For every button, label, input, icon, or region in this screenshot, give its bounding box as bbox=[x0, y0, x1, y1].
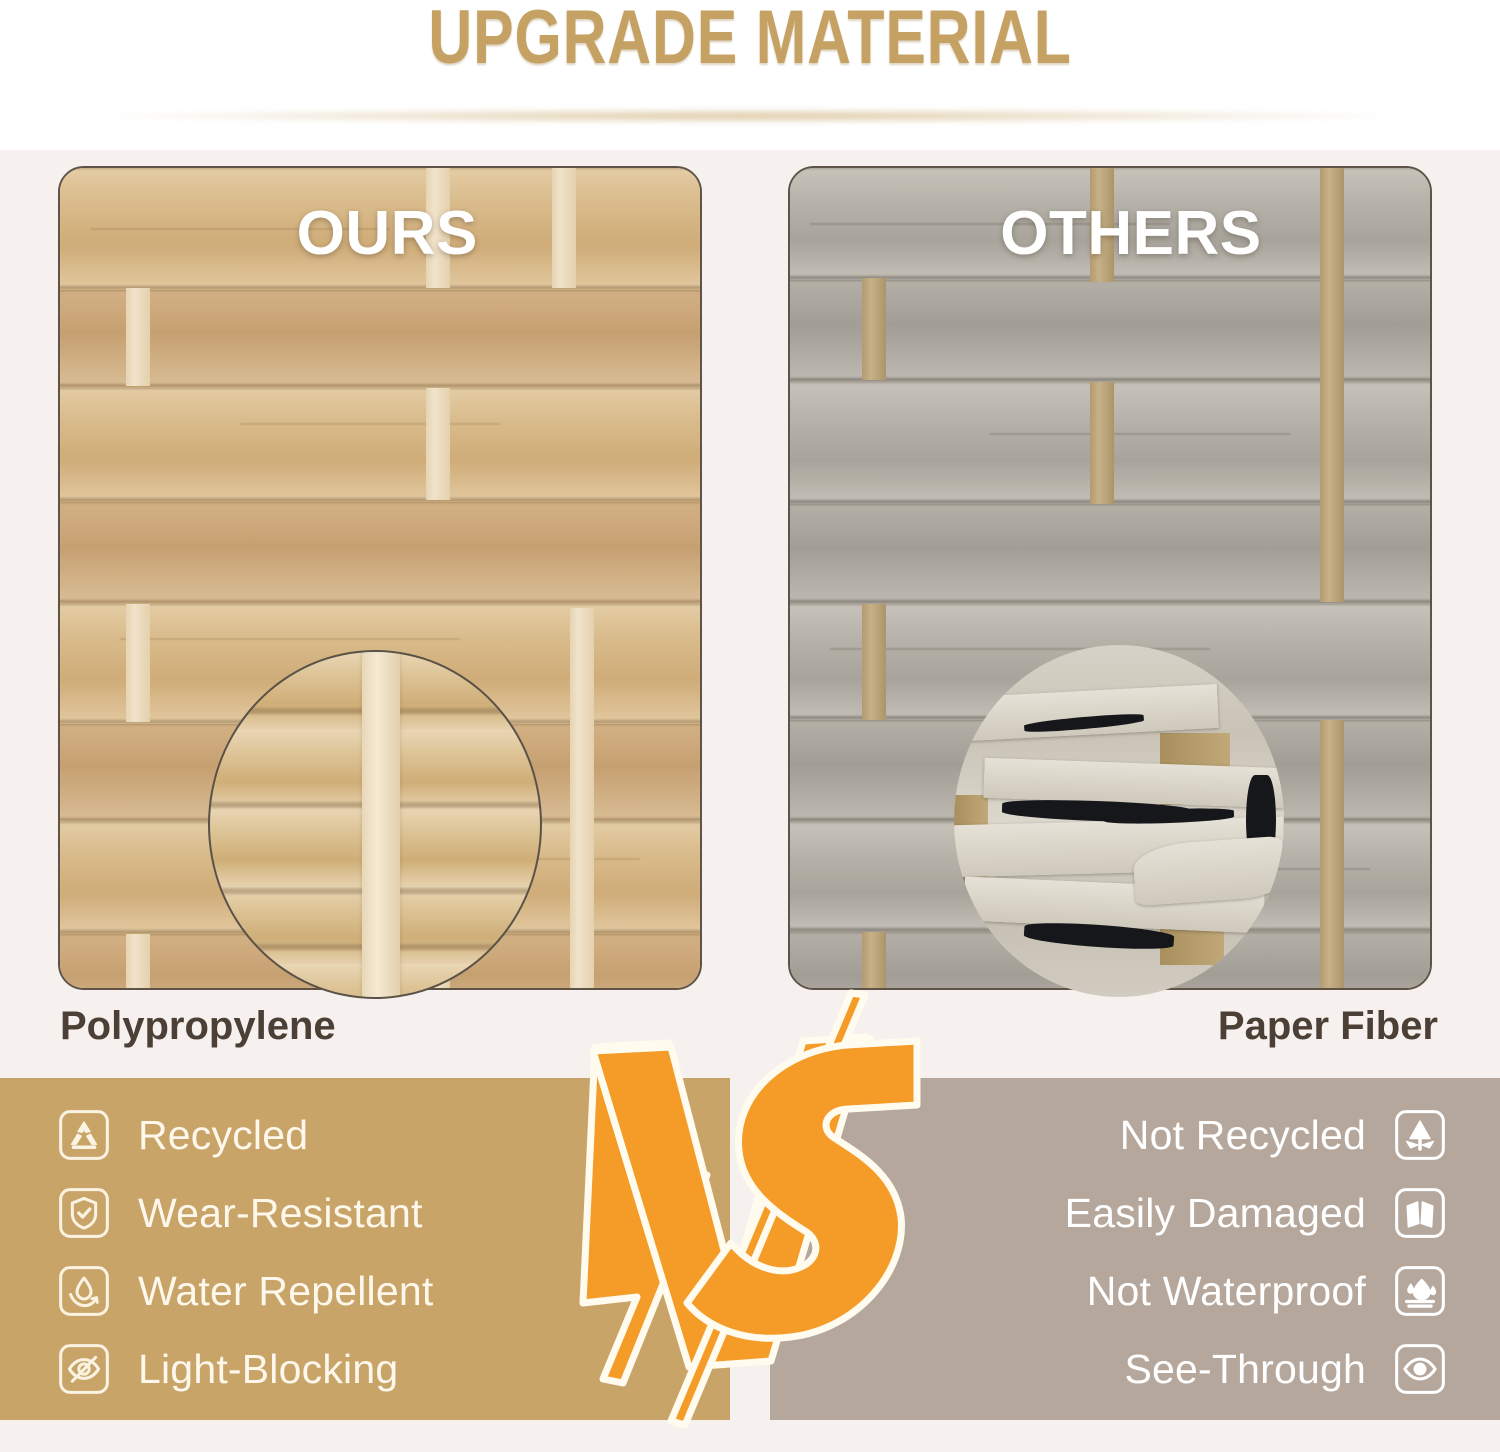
torn-paper-icon bbox=[1392, 1185, 1448, 1241]
ours-closeup-magnifier bbox=[208, 650, 542, 999]
eye-icon bbox=[1392, 1341, 1448, 1397]
feature-label: Not Recycled bbox=[1120, 1112, 1366, 1159]
others-feature-bar: Not Recycled Easily Damaged bbox=[770, 1078, 1500, 1420]
feature-label: Not Waterproof bbox=[1087, 1268, 1366, 1315]
list-item: Not Recycled bbox=[770, 1096, 1500, 1174]
title-underline-glow bbox=[100, 108, 1400, 124]
water-repellent-icon bbox=[56, 1263, 112, 1319]
ours-badge: OURS bbox=[297, 198, 478, 269]
feature-label: Light-Blocking bbox=[138, 1346, 398, 1393]
feature-label: Water Repellent bbox=[138, 1268, 433, 1315]
feature-label: Wear-Resistant bbox=[138, 1190, 423, 1237]
list-item: Easily Damaged bbox=[770, 1174, 1500, 1252]
others-badge: OTHERS bbox=[1000, 198, 1261, 269]
shield-check-icon bbox=[56, 1185, 112, 1241]
broken-recycle-icon bbox=[1392, 1107, 1448, 1163]
list-item: Light-Blocking bbox=[0, 1330, 730, 1408]
list-item: See-Through bbox=[770, 1330, 1500, 1408]
eye-slash-icon bbox=[56, 1341, 112, 1397]
list-item: Water Repellent bbox=[0, 1252, 730, 1330]
feature-label: Recycled bbox=[138, 1112, 308, 1159]
page-title: UPGRADE MATERIAL bbox=[428, 0, 1071, 81]
recycle-icon bbox=[56, 1107, 112, 1163]
list-item: Not Waterproof bbox=[770, 1252, 1500, 1330]
list-item: Recycled bbox=[0, 1096, 730, 1174]
feature-label: Easily Damaged bbox=[1065, 1190, 1366, 1237]
feature-label: See-Through bbox=[1124, 1346, 1366, 1393]
water-splash-icon bbox=[1392, 1263, 1448, 1319]
ours-material-name: Polypropylene bbox=[60, 1004, 336, 1049]
others-closeup-magnifier bbox=[954, 645, 1284, 997]
others-material-name: Paper Fiber bbox=[1218, 1004, 1438, 1049]
list-item: Wear-Resistant bbox=[0, 1174, 730, 1252]
header: UPGRADE MATERIAL bbox=[0, 0, 1500, 150]
ours-feature-bar: Recycled Wear-Resistant W bbox=[0, 1078, 730, 1420]
